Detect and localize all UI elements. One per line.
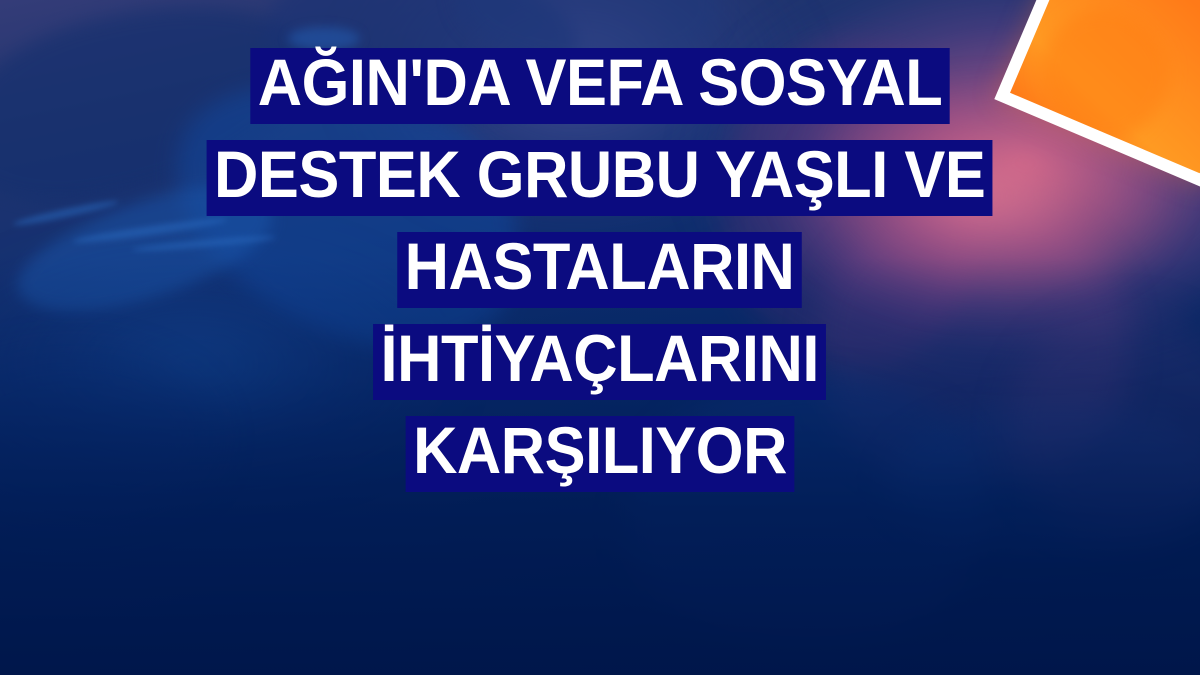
headline-line-2: DESTEK GRUBU YAŞLI VE [207, 140, 993, 216]
headline-line-3: HASTALARIN [398, 232, 803, 308]
headline-line-4: İHTİYAÇLARINI [373, 324, 826, 400]
headline-card: AĞIN'DA VEFA SOSYAL DESTEK GRUBU YAŞLI V… [0, 0, 1200, 675]
headline-line-1: AĞIN'DA VEFA SOSYAL [250, 48, 949, 124]
headline-block: AĞIN'DA VEFA SOSYAL DESTEK GRUBU YAŞLI V… [0, 48, 1200, 508]
headline-line-5: KARŞILIYOR [406, 416, 795, 492]
